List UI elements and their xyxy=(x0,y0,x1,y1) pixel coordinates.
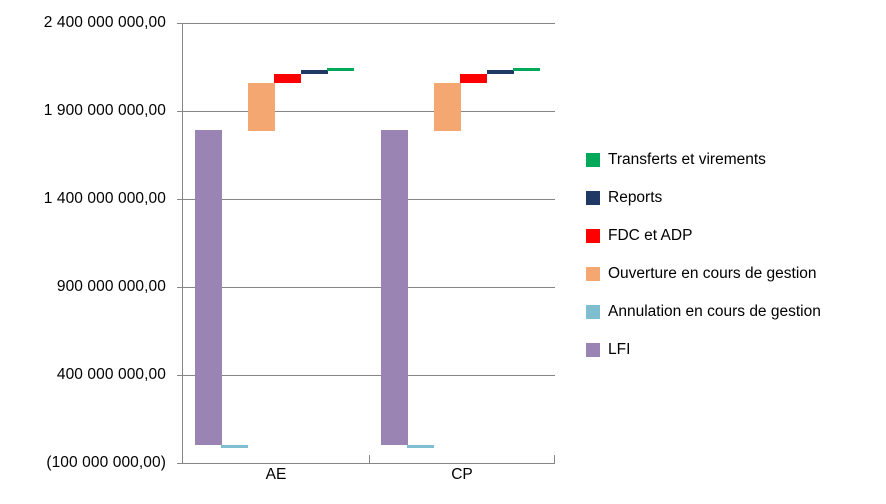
grid-line xyxy=(183,375,555,376)
grid-line xyxy=(183,23,555,24)
legend-item-label: Reports xyxy=(608,190,662,206)
legend-item[interactable]: Annulation en cours de gestion xyxy=(586,293,886,331)
legend-swatch-icon xyxy=(586,229,600,243)
bar-segment xyxy=(248,83,275,131)
bar-segment xyxy=(274,74,301,83)
y-tick-label: 1 400 000 000,00 xyxy=(44,190,166,208)
legend-swatch-icon xyxy=(586,343,600,357)
legend-item-label: FDC et ADP xyxy=(608,228,692,244)
grid-line xyxy=(183,287,555,288)
y-axis-tick xyxy=(177,287,183,288)
y-tick-label: (100 000 000,00) xyxy=(46,454,166,472)
bar-segment xyxy=(460,74,487,83)
y-tick-label: 400 000 000,00 xyxy=(57,366,166,384)
bar-segment xyxy=(381,130,408,445)
bar-segment xyxy=(513,68,540,71)
legend-item[interactable]: Ouverture en cours de gestion xyxy=(586,255,886,293)
y-axis-tick xyxy=(177,23,183,24)
plot-area xyxy=(183,23,555,463)
bar-segment xyxy=(487,70,514,74)
y-axis-tick xyxy=(177,111,183,112)
x-axis: AECP xyxy=(183,466,555,494)
y-axis-tick xyxy=(177,199,183,200)
y-tick-label: 900 000 000,00 xyxy=(57,278,166,296)
legend-item[interactable]: Reports xyxy=(586,179,886,217)
x-tick-label: CP xyxy=(451,466,473,484)
legend-item[interactable]: FDC et ADP xyxy=(586,217,886,255)
legend-swatch-icon xyxy=(586,191,600,205)
chart-legend: Transferts et virementsReportsFDC et ADP… xyxy=(586,141,886,369)
legend-item-label: Ouverture en cours de gestion xyxy=(608,266,817,282)
legend-swatch-icon xyxy=(586,153,600,167)
category-separator xyxy=(554,455,555,463)
x-tick-label: AE xyxy=(266,466,287,484)
y-axis: 2 400 000 000,001 900 000 000,001 400 00… xyxy=(0,0,176,504)
legend-item-label: LFI xyxy=(608,342,630,358)
legend-swatch-icon xyxy=(586,305,600,319)
y-tick-label: 1 900 000 000,00 xyxy=(44,102,166,120)
grid-line xyxy=(183,463,555,464)
y-axis-tick xyxy=(177,463,183,464)
grid-line xyxy=(183,199,555,200)
bar-segment xyxy=(195,130,222,445)
waterfall-chart: 2 400 000 000,001 900 000 000,001 400 00… xyxy=(0,0,886,504)
y-tick-label: 2 400 000 000,00 xyxy=(44,14,166,32)
bar-segment xyxy=(407,445,434,448)
grid-line xyxy=(183,111,555,112)
legend-swatch-icon xyxy=(586,267,600,281)
y-axis-tick xyxy=(177,375,183,376)
legend-item[interactable]: Transferts et virements xyxy=(586,141,886,179)
bar-segment xyxy=(327,68,354,71)
y-axis-line xyxy=(182,23,183,463)
bar-segment xyxy=(434,83,461,131)
legend-item-label: Annulation en cours de gestion xyxy=(608,304,821,320)
category-separator xyxy=(369,455,370,463)
legend-item-label: Transferts et virements xyxy=(608,152,766,168)
bar-segment xyxy=(301,70,328,74)
bar-segment xyxy=(221,445,248,448)
legend-item[interactable]: LFI xyxy=(586,331,886,369)
